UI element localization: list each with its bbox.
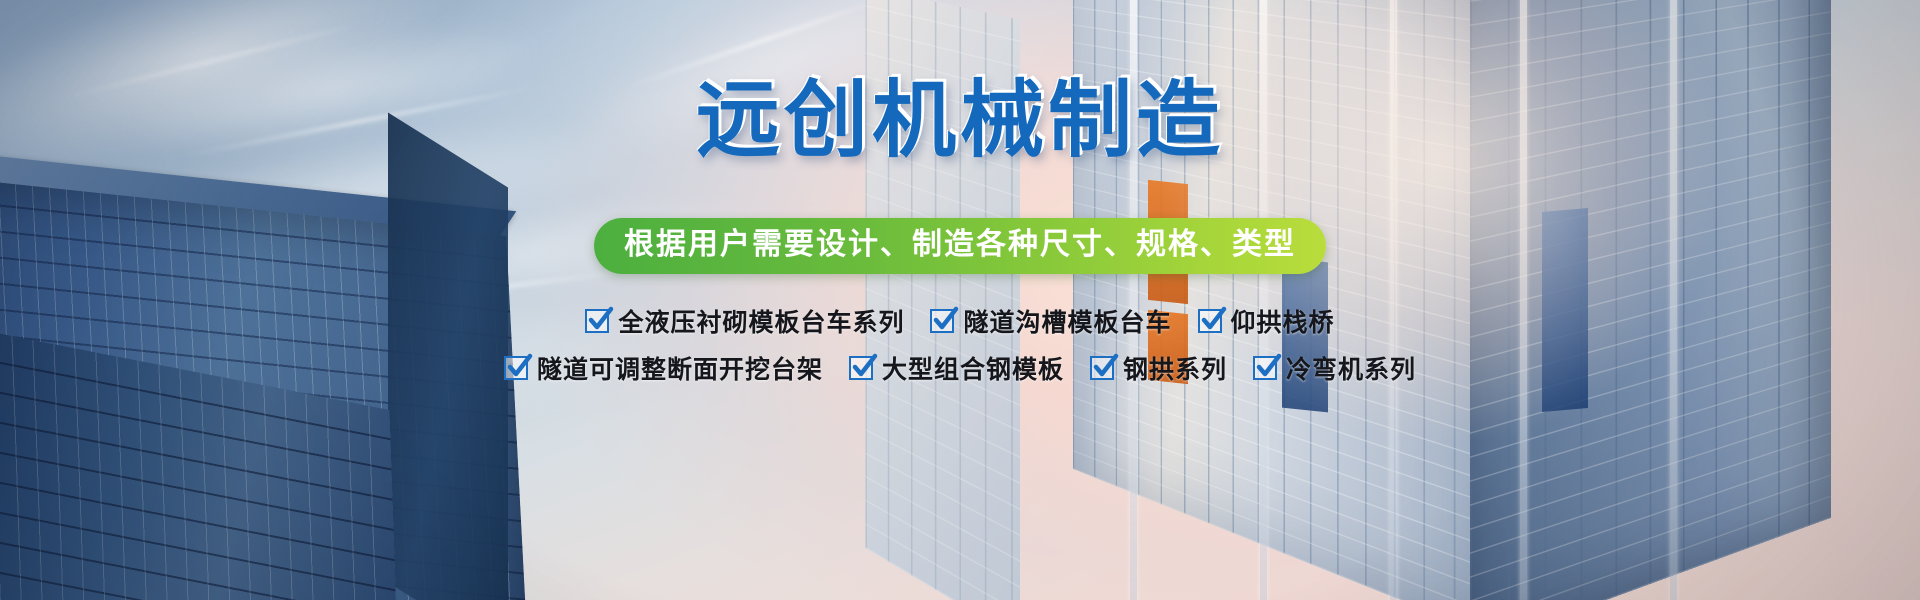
feature-label: 全液压衬砌模板台车系列 — [618, 303, 904, 339]
feature-item[interactable]: 隧道可调整断面开挖台架 — [504, 350, 823, 386]
feature-label: 冷弯机系列 — [1286, 350, 1416, 386]
feature-item[interactable]: 隧道沟槽模板台车 — [930, 303, 1171, 339]
feature-item[interactable]: 仰拱栈桥 — [1198, 303, 1335, 339]
feature-item[interactable]: 大型组合钢模板 — [849, 350, 1064, 386]
banner-title: 远创机械制造 — [0, 78, 1920, 162]
feature-row: 隧道可调整断面开挖台架 大型组合钢模板 钢拱系列 — [0, 350, 1920, 386]
checkbox-checked-icon — [585, 309, 609, 333]
feature-item[interactable]: 全液压衬砌模板台车系列 — [585, 303, 904, 339]
feature-label: 隧道沟槽模板台车 — [963, 303, 1171, 339]
feature-label: 钢拱系列 — [1123, 350, 1227, 386]
checkbox-checked-icon — [504, 356, 528, 380]
feature-item[interactable]: 钢拱系列 — [1090, 350, 1227, 386]
feature-label: 大型组合钢模板 — [882, 350, 1064, 386]
feature-row: 全液压衬砌模板台车系列 隧道沟槽模板台车 仰拱栈桥 — [0, 303, 1920, 339]
checkbox-checked-icon — [849, 356, 873, 380]
checkbox-checked-icon — [1198, 309, 1222, 333]
feature-list: 全液压衬砌模板台车系列 隧道沟槽模板台车 仰拱栈桥 — [0, 303, 1920, 397]
hero-banner: 远创机械制造 根据用户需要设计、制造各种尺寸、规格、类型 全液压衬砌模板台车系列… — [0, 0, 1920, 600]
checkbox-checked-icon — [1090, 356, 1114, 380]
banner-subtitle-wrap: 根据用户需要设计、制造各种尺寸、规格、类型 — [0, 218, 1920, 274]
checkbox-checked-icon — [930, 309, 954, 333]
checkbox-checked-icon — [1253, 356, 1277, 380]
feature-item[interactable]: 冷弯机系列 — [1253, 350, 1416, 386]
feature-label: 隧道可调整断面开挖台架 — [537, 350, 823, 386]
banner-content: 远创机械制造 根据用户需要设计、制造各种尺寸、规格、类型 全液压衬砌模板台车系列… — [0, 0, 1920, 600]
banner-subtitle-pill: 根据用户需要设计、制造各种尺寸、规格、类型 — [594, 218, 1326, 274]
feature-label: 仰拱栈桥 — [1231, 303, 1335, 339]
